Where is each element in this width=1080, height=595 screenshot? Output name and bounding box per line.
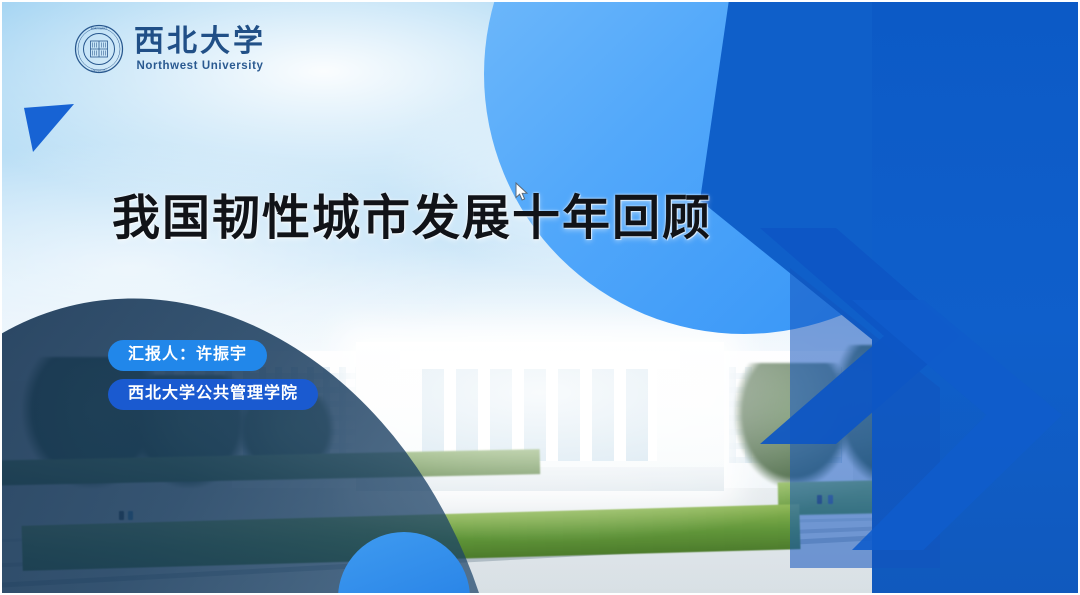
university-seal-icon: NORTHWEST UNIVERSITY xyxy=(74,24,124,74)
logo-name-cn: 西北大学 xyxy=(134,26,266,58)
presenter-school-badge: 西北大学公共管理学院 xyxy=(108,379,318,410)
presenter-info: 汇报人：许振宇 西北大学公共管理学院 xyxy=(108,340,318,410)
logo-name-en: Northwest University xyxy=(136,60,263,72)
svg-text:UNIVERSITY: UNIVERSITY xyxy=(91,69,107,73)
logo-wordmark: 西北大学 Northwest University xyxy=(134,26,266,72)
presenter-name-badge: 汇报人：许振宇 xyxy=(108,340,267,371)
slide-title: 我国韧性城市发展十年回顾 xyxy=(112,178,712,248)
university-logo: NORTHWEST UNIVERSITY 西北大学 Northwest Univ… xyxy=(74,24,266,74)
presentation-slide: NORTHWEST UNIVERSITY 西北大学 Northwest Univ… xyxy=(0,0,1080,595)
svg-text:NORTHWEST: NORTHWEST xyxy=(91,27,108,31)
